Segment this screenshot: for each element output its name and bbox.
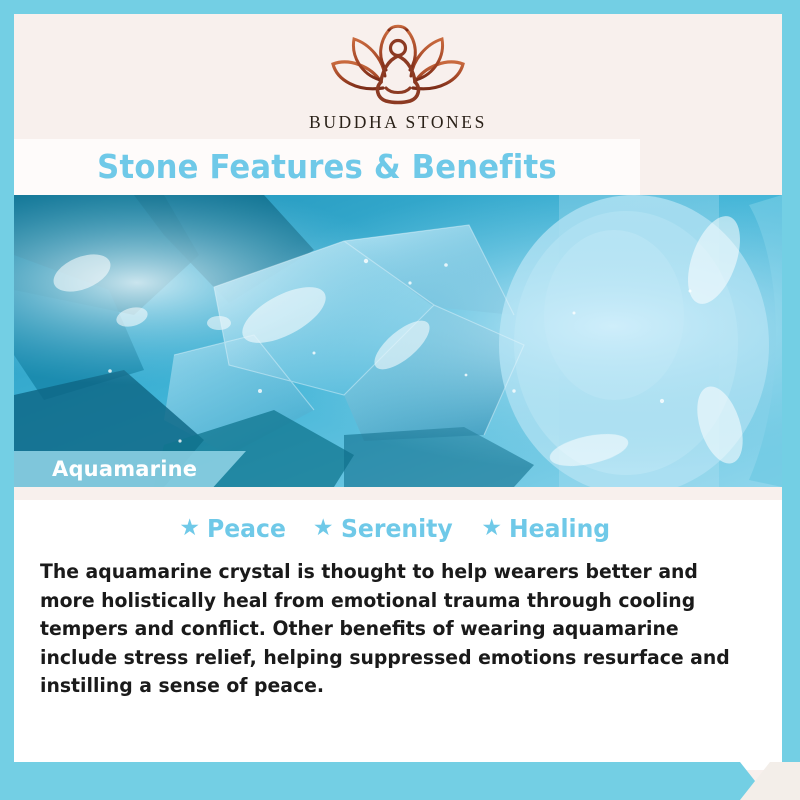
photo-content-divider: [14, 487, 782, 500]
brand-logo: BUDDHA STONES: [14, 22, 782, 133]
frame-band-right: [782, 0, 800, 800]
brand-name: BUDDHA STONES: [309, 112, 487, 133]
page-title: Stone Features & Benefits: [36, 142, 618, 192]
stone-name-label: Aquamarine: [52, 451, 197, 487]
keyword-serenity: ★ Serenity: [313, 514, 460, 543]
keyword-label: Serenity: [341, 514, 453, 543]
lotus-meditation-icon: [323, 22, 473, 110]
frame-band-top: [0, 0, 800, 14]
star-icon: ★: [481, 517, 502, 540]
star-icon: ★: [179, 517, 200, 540]
description-text: The aquamarine crystal is thought to hel…: [40, 558, 737, 701]
star-icon: ★: [313, 517, 334, 540]
keyword-peace: ★ Peace: [179, 514, 291, 543]
frame-band-left: [0, 0, 14, 800]
bottom-blue-wedge: [0, 762, 800, 800]
keyword-healing: ★ Healing: [481, 514, 616, 543]
keyword-label: Healing: [509, 514, 610, 543]
keyword-label: Peace: [207, 514, 286, 543]
crystal-photo: [14, 195, 782, 487]
crystal-photo-art: [14, 195, 782, 487]
brand-header: BUDDHA STONES: [14, 14, 782, 139]
stone-benefits-infographic: BUDDHA STONES Stone Features & Benefits: [0, 0, 800, 800]
keyword-row: ★ Peace ★ Serenity ★ Healing: [14, 514, 782, 543]
